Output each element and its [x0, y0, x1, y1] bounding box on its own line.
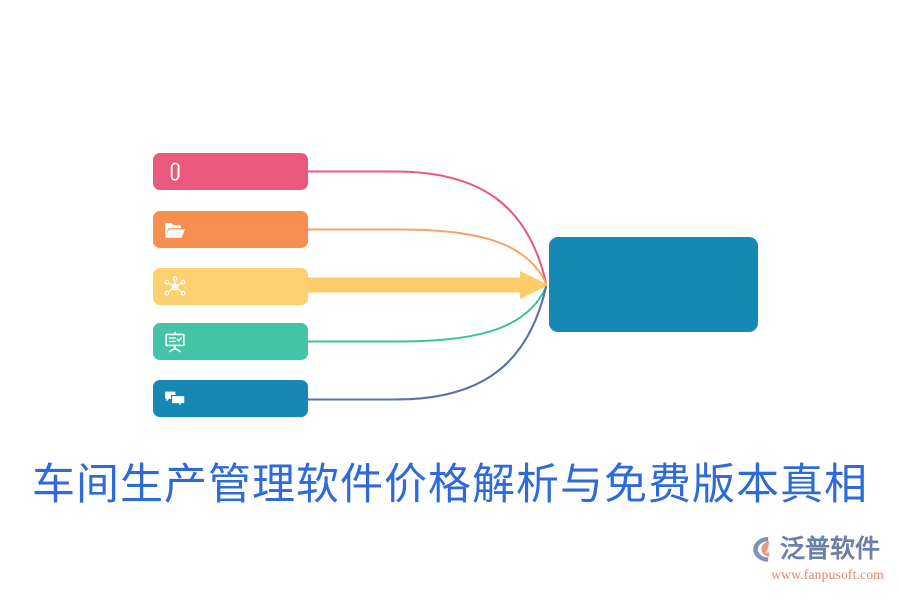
flow-node-attachment[interactable]: [153, 153, 308, 190]
connector-curve-chat: [305, 287, 546, 400]
flow-node-presentation[interactable]: [153, 323, 308, 360]
brand-url: www.fanpusoft.com: [748, 567, 884, 583]
folder-open-icon: [163, 218, 187, 242]
connector-curve-folder: [305, 230, 546, 284]
chat-bubbles-icon: [163, 387, 187, 411]
flow-node-folder[interactable]: [153, 211, 308, 248]
flow-node-network[interactable]: [153, 268, 308, 305]
presentation-board-icon: [163, 330, 187, 354]
connector-layer: [0, 0, 900, 440]
connector-curve-attachment: [305, 172, 546, 284]
fanpu-logo-icon: [748, 534, 778, 564]
page-canvas: 车间生产管理软件价格解析与免费版本真相 泛普软件 www.fanpusoft.c…: [0, 0, 900, 600]
paperclip-icon: [163, 160, 187, 184]
brand-logo-row: 泛普软件: [748, 532, 884, 566]
connector-arrow-network: [303, 271, 549, 299]
network-hub-icon: [163, 275, 187, 299]
convergence-diagram: [0, 0, 900, 440]
flow-target-box[interactable]: [549, 237, 758, 332]
flow-node-chat[interactable]: [153, 380, 308, 417]
page-title: 车间生产管理软件价格解析与免费版本真相: [0, 455, 900, 515]
connector-curve-presentation: [305, 287, 546, 342]
brand-name: 泛普软件: [780, 534, 880, 564]
brand-logo: 泛普软件 www.fanpusoft.com: [748, 532, 884, 588]
